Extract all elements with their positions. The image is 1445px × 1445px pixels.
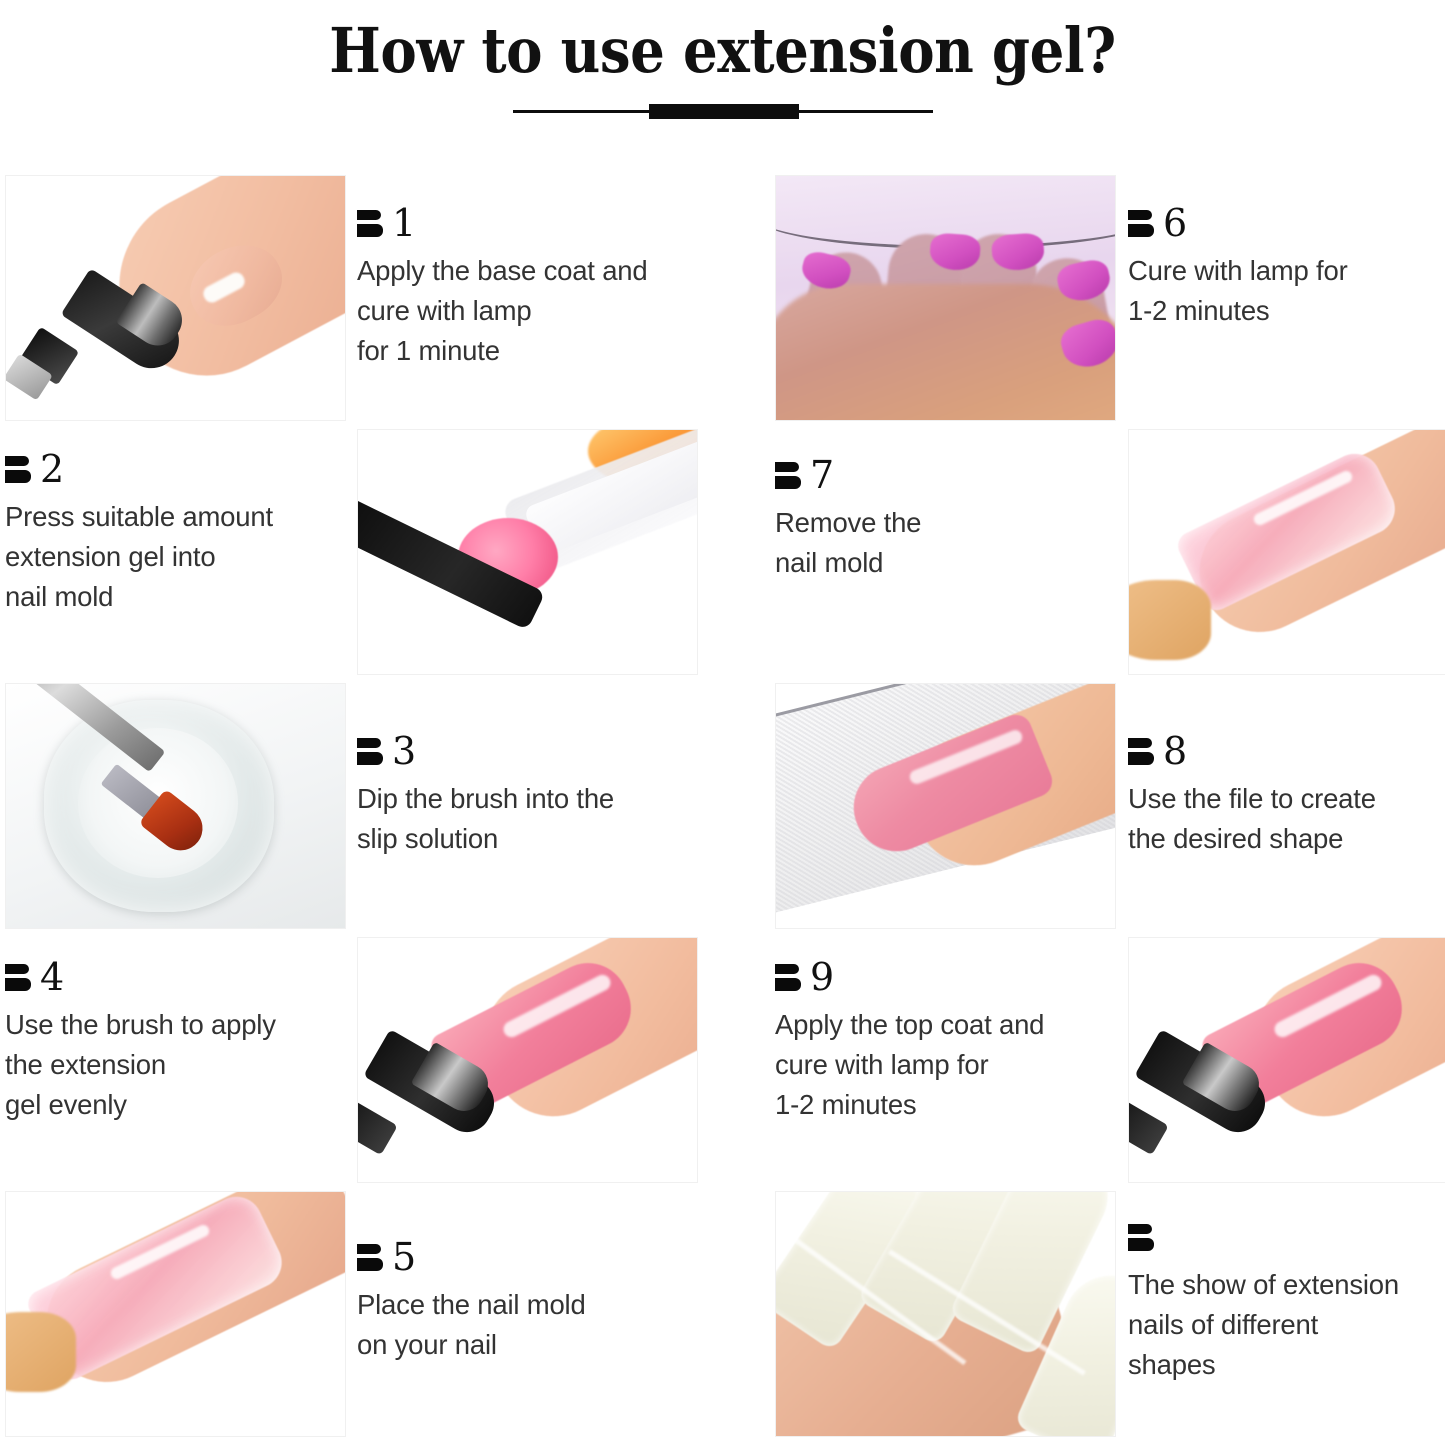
step-1-line-3: for 1 minute	[357, 331, 704, 371]
step-5-heading: 5	[357, 1235, 704, 1279]
steps-row-1: 1 Apply the base coat and cure with lamp…	[0, 175, 1445, 429]
thumb-shape	[5, 1312, 76, 1392]
final-line-1: The show of extension	[1128, 1265, 1445, 1305]
step-8-heading: 8	[1128, 729, 1445, 773]
step-1-line-1: Apply the base coat and	[357, 251, 704, 291]
bullet-bar-icon	[357, 1242, 383, 1272]
bullet-bar-icon	[775, 962, 801, 992]
step-4-description: Use the brush to apply the extension gel…	[5, 1005, 352, 1125]
step-8-line-2: the desired shape	[1128, 819, 1445, 859]
step-9-line-2: cure with lamp for	[775, 1045, 1122, 1085]
final-line-2: nails of different	[1128, 1305, 1445, 1345]
bullet-bar-icon	[5, 454, 31, 484]
step-9-description: Apply the top coat and cure with lamp fo…	[775, 1005, 1122, 1125]
photo-brush-applying-gel	[357, 937, 698, 1183]
bullet-bar-icon	[357, 208, 383, 238]
bullet-bar-icon	[1128, 208, 1154, 238]
step-2-line-1: Press suitable amount	[5, 497, 352, 537]
step-3-line-2: slip solution	[357, 819, 704, 859]
step-2-number: 2	[40, 450, 64, 488]
step-7-heading: 7	[775, 453, 1122, 497]
step-3-image-cell	[5, 683, 352, 931]
photo-extension-nails-shapes	[775, 1191, 1116, 1437]
step-8-image-cell	[775, 683, 1122, 931]
step-9-text: 9 Apply the top coat and cure with lamp …	[775, 937, 1122, 1125]
step-1-number: 1	[392, 204, 416, 242]
step-9-line-3: 1-2 minutes	[775, 1085, 1122, 1125]
step-1-line-2: cure with lamp	[357, 291, 704, 331]
step-7-line-1: Remove the	[775, 503, 1122, 543]
step-1-text-cell: 1 Apply the base coat and cure with lamp…	[357, 175, 704, 423]
photo-uv-lamp-curing	[775, 175, 1116, 421]
bullet-bar-icon	[1128, 1222, 1154, 1252]
step-9-image-cell	[1128, 937, 1445, 1185]
step-1-text: 1 Apply the base coat and cure with lamp…	[357, 175, 704, 371]
step-5-line-1: Place the nail mold	[357, 1285, 704, 1325]
step-7-number: 7	[810, 456, 834, 494]
step-6-number: 6	[1163, 204, 1187, 242]
step-5-text: 5 Place the nail mold on your nail	[357, 1191, 704, 1365]
step-6-description: Cure with lamp for 1-2 minutes	[1128, 251, 1445, 331]
photo-gel-into-mold	[357, 429, 698, 675]
thumb-shape	[1128, 580, 1211, 660]
step-3-number: 3	[392, 732, 416, 770]
step-5-description: Place the nail mold on your nail	[357, 1285, 704, 1365]
step-9-text-cell: 9 Apply the top coat and cure with lamp …	[775, 937, 1122, 1185]
page-header: How to use extension gel?	[0, 0, 1445, 175]
title-divider	[513, 103, 933, 121]
divider-center-bar	[649, 104, 799, 119]
step-5-text-cell: 5 Place the nail mold on your nail	[357, 1191, 704, 1439]
step-7-text-cell: 7 Remove the nail mold	[775, 429, 1122, 677]
step-8-line-1: Use the file to create	[1128, 779, 1445, 819]
brush-handle-shape	[357, 1091, 398, 1155]
final-line-3: shapes	[1128, 1345, 1445, 1385]
step-5-number: 5	[392, 1238, 416, 1276]
step-2-image-cell	[357, 429, 704, 677]
photo-base-coat-brush	[5, 175, 346, 421]
step-6-line-1: Cure with lamp for	[1128, 251, 1445, 291]
step-5-image-cell	[5, 1191, 352, 1439]
step-4-heading: 4	[5, 955, 352, 999]
final-text-cell: The show of extension nails of different…	[1128, 1191, 1445, 1439]
step-2-text-cell: 2 Press suitable amount extension gel in…	[5, 429, 352, 677]
bullet-bar-icon	[5, 962, 31, 992]
final-heading	[1128, 1215, 1445, 1259]
step-3-text-cell: 3 Dip the brush into the slip solution	[357, 683, 704, 931]
brush-handle-shape	[1128, 1091, 1169, 1155]
final-text: The show of extension nails of different…	[1128, 1191, 1445, 1385]
page-title: How to use extension gel?	[87, 0, 1359, 87]
step-2-line-2: extension gel into	[5, 537, 352, 577]
photo-filing-nail	[775, 683, 1116, 929]
bullet-bar-icon	[1128, 736, 1154, 766]
step-2-heading: 2	[5, 447, 352, 491]
step-2-line-3: nail mold	[5, 577, 352, 617]
step-8-text: 8 Use the file to create the desired sha…	[1128, 683, 1445, 859]
step-9-number: 9	[810, 958, 834, 996]
step-1-description: Apply the base coat and cure with lamp f…	[357, 251, 704, 371]
step-3-heading: 3	[357, 729, 704, 773]
step-4-image-cell	[357, 937, 704, 1185]
photo-place-mold-on-nail	[5, 1191, 346, 1437]
step-4-line-2: the extension	[5, 1045, 352, 1085]
step-1-heading: 1	[357, 201, 704, 245]
step-7-line-2: nail mold	[775, 543, 1122, 583]
step-4-line-1: Use the brush to apply	[5, 1005, 352, 1045]
step-7-text: 7 Remove the nail mold	[775, 429, 1122, 583]
step-3-line-1: Dip the brush into the	[357, 779, 704, 819]
step-4-number: 4	[40, 958, 64, 996]
photo-remove-nail-mold	[1128, 429, 1445, 675]
step-6-text: 6 Cure with lamp for 1-2 minutes	[1128, 175, 1445, 331]
step-6-text-cell: 6 Cure with lamp for 1-2 minutes	[1128, 175, 1445, 423]
steps-row-4: 4 Use the brush to apply the extension g…	[0, 937, 1445, 1191]
photo-top-coat-application	[1128, 937, 1445, 1183]
step-7-description: Remove the nail mold	[775, 503, 1122, 583]
step-8-text-cell: 8 Use the file to create the desired sha…	[1128, 683, 1445, 931]
step-4-line-3: gel evenly	[5, 1085, 352, 1125]
step-3-description: Dip the brush into the slip solution	[357, 779, 704, 859]
steps-row-2: 2 Press suitable amount extension gel in…	[0, 429, 1445, 683]
final-description: The show of extension nails of different…	[1128, 1265, 1445, 1385]
step-8-description: Use the file to create the desired shape	[1128, 779, 1445, 859]
step-4-text: 4 Use the brush to apply the extension g…	[5, 937, 352, 1125]
step-2-text: 2 Press suitable amount extension gel in…	[5, 429, 352, 617]
steps-grid: 1 Apply the base coat and cure with lamp…	[0, 175, 1445, 1445]
step-4-text-cell: 4 Use the brush to apply the extension g…	[5, 937, 352, 1185]
step-8-number: 8	[1163, 732, 1187, 770]
bullet-bar-icon	[775, 460, 801, 490]
step-6-heading: 6	[1128, 201, 1445, 245]
step-9-heading: 9	[775, 955, 1122, 999]
steps-row-5: 5 Place the nail mold on your nail	[0, 1191, 1445, 1445]
steps-row-3: 3 Dip the brush into the slip solution	[0, 683, 1445, 937]
step-6-image-cell	[775, 175, 1122, 423]
step-9-line-1: Apply the top coat and	[775, 1005, 1122, 1045]
step-3-text: 3 Dip the brush into the slip solution	[357, 683, 704, 859]
step-7-image-cell	[1128, 429, 1445, 677]
bullet-bar-icon	[357, 736, 383, 766]
step-1-image-cell	[5, 175, 352, 423]
step-2-description: Press suitable amount extension gel into…	[5, 497, 352, 617]
step-6-line-2: 1-2 minutes	[1128, 291, 1445, 331]
photo-slip-solution-dish	[5, 683, 346, 929]
step-5-line-2: on your nail	[357, 1325, 704, 1365]
final-image-cell	[775, 1191, 1122, 1439]
